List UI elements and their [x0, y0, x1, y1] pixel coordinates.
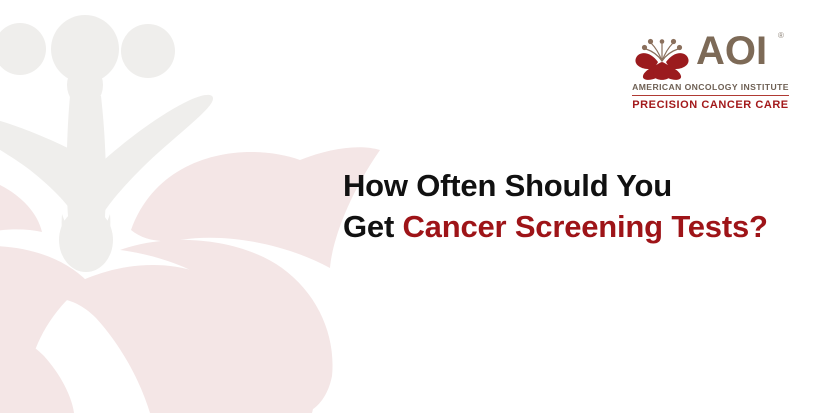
logo-top-row: AOI ®: [632, 31, 792, 81]
headline-line-2-highlight: Cancer Screening Tests?: [403, 209, 768, 244]
logo-tagline: PRECISION CANCER CARE: [632, 99, 789, 111]
headline-line-1: How Often Should You: [343, 165, 813, 206]
headline-line-2-prefix: Get: [343, 209, 403, 244]
hibiscus-flower-icon: [634, 31, 690, 81]
logo-divider: [632, 95, 789, 96]
aoi-logo[interactable]: AOI ® AMERICAN ONCOLOGY INSTITUTE PRECIS…: [632, 31, 792, 115]
registered-trademark-icon: ®: [778, 31, 784, 41]
logo-wordmark: AOI: [696, 28, 767, 74]
watermark-stamen: [0, 15, 213, 272]
headline-line-1-text: How Often Should You: [343, 168, 672, 203]
headline-line-2: Get Cancer Screening Tests?: [343, 206, 813, 247]
watermark-petals: [0, 147, 380, 413]
page-title: How Often Should You Get Cancer Screenin…: [343, 165, 813, 247]
blog-banner: How Often Should You Get Cancer Screenin…: [0, 0, 831, 413]
logo-subtitle: AMERICAN ONCOLOGY INSTITUTE: [632, 82, 789, 92]
